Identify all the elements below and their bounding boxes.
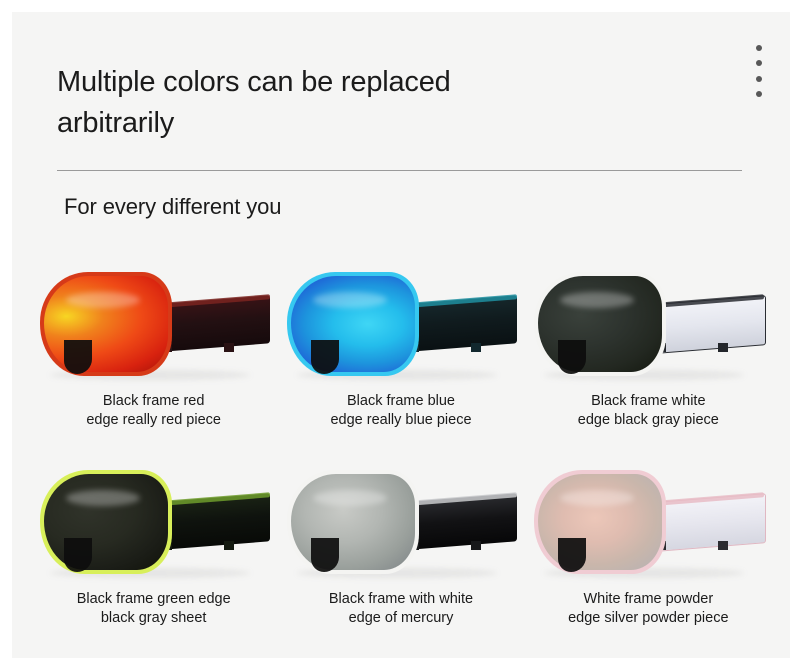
product-image-ski-goggles-pink xyxy=(532,464,764,582)
product-caption: Black frame blue edge really blue piece xyxy=(330,392,471,430)
product-image-ski-goggles-green xyxy=(38,464,270,582)
product-card-item[interactable]: Black frame red edge really red piece xyxy=(30,264,277,462)
product-caption: Black frame green edge black gray sheet xyxy=(77,590,231,628)
menu-dot xyxy=(756,45,762,51)
header: Multiple colors can be replaced arbitrar… xyxy=(57,62,757,144)
header-divider xyxy=(57,170,742,171)
page-title: Multiple colors can be replaced arbitrar… xyxy=(57,62,527,144)
product-grid: Black frame red edge really red piece Bl… xyxy=(30,264,772,660)
product-image-ski-goggles-red xyxy=(38,266,270,384)
product-card-item[interactable]: White frame powder edge silver powder pi… xyxy=(525,462,772,660)
product-card: Multiple colors can be replaced arbitrar… xyxy=(12,12,790,658)
product-caption: White frame powder edge silver powder pi… xyxy=(568,590,728,628)
product-image-ski-goggles-mercury xyxy=(285,464,517,582)
product-card-item[interactable]: Black frame blue edge really blue piece xyxy=(277,264,524,462)
product-image-ski-goggles-white-strap xyxy=(532,266,764,384)
menu-dot xyxy=(756,60,762,66)
product-image-ski-goggles-blue xyxy=(285,266,517,384)
menu-dot xyxy=(756,91,762,97)
menu-dot xyxy=(756,76,762,82)
product-caption: Black frame white edge black gray piece xyxy=(578,392,719,430)
kebab-more-vertical-icon[interactable] xyxy=(751,45,767,97)
product-card-item[interactable]: Black frame white edge black gray piece xyxy=(525,264,772,462)
product-caption: Black frame with white edge of mercury xyxy=(329,590,473,628)
product-caption: Black frame red edge really red piece xyxy=(86,392,221,430)
product-card-item[interactable]: Black frame with white edge of mercury xyxy=(277,462,524,660)
product-card-item[interactable]: Black frame green edge black gray sheet xyxy=(30,462,277,660)
section-subtitle: For every different you xyxy=(64,194,281,220)
